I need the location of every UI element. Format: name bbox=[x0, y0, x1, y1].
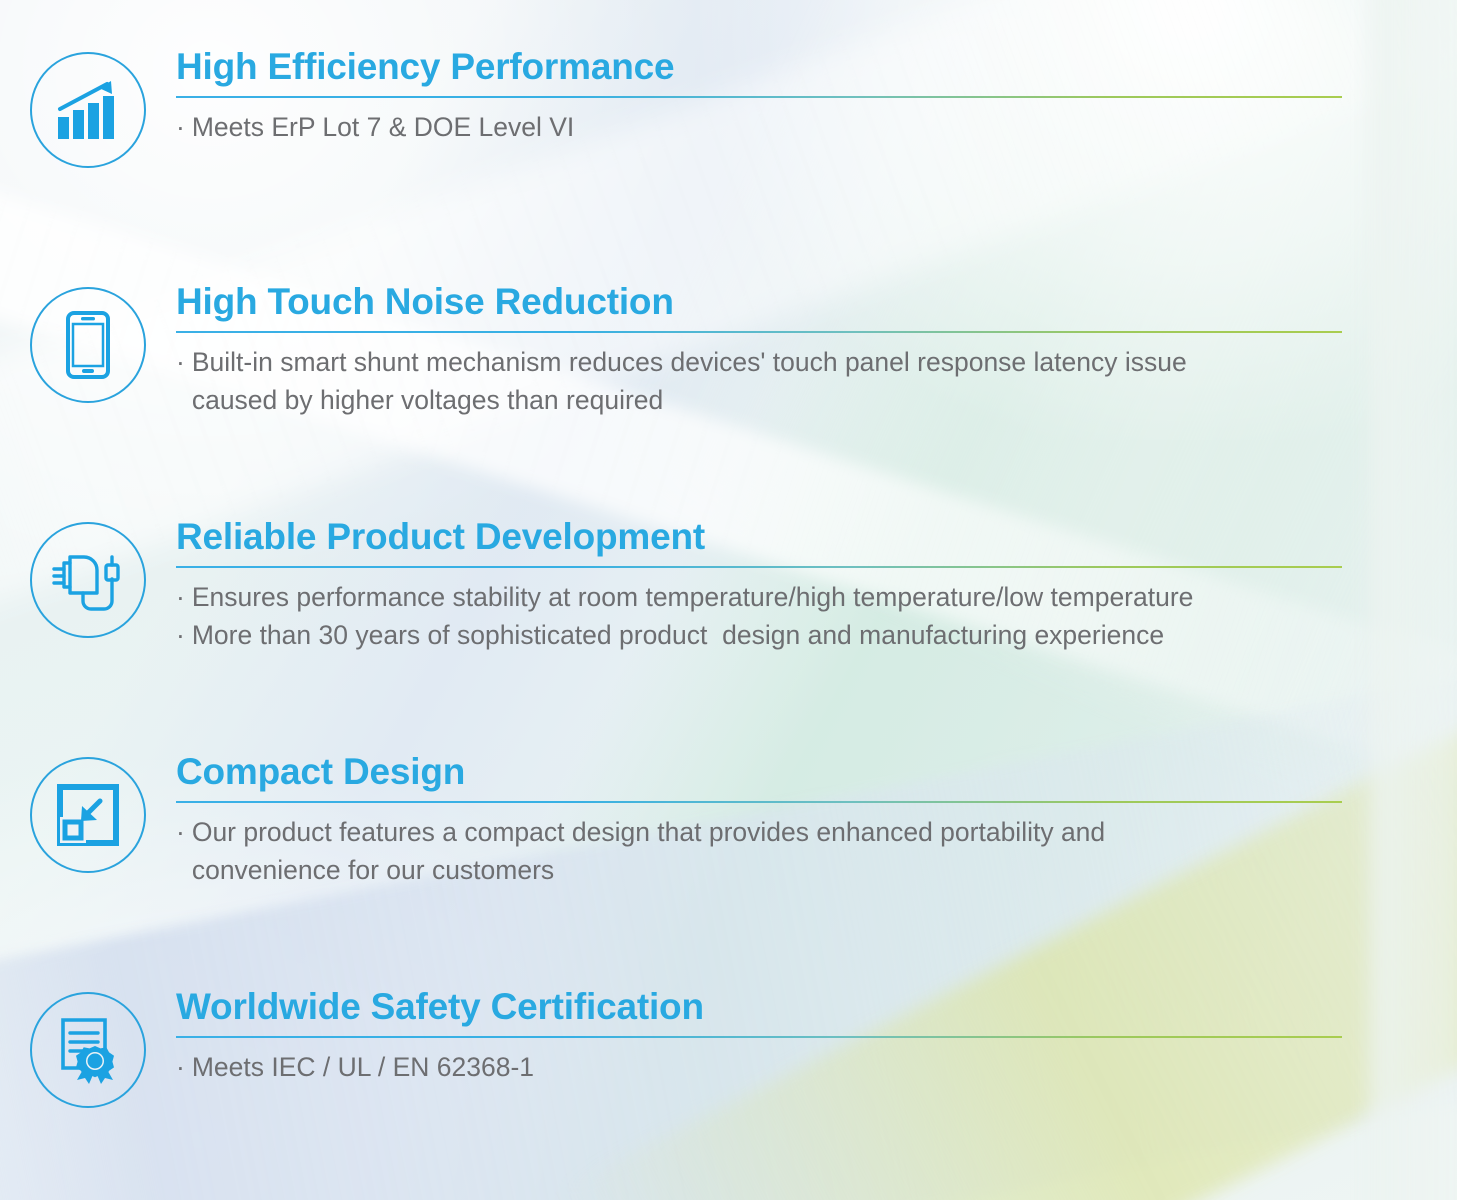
feature-title: High Touch Noise Reduction bbox=[176, 283, 1385, 321]
bullet-text: Meets IEC / UL / EN 62368-1 bbox=[192, 1049, 1385, 1087]
feature-content: Compact Design · Our product features a … bbox=[176, 753, 1457, 890]
bullet-text: Meets ErP Lot 7 & DOE Level VI bbox=[192, 109, 1385, 147]
feature-icon-wrap bbox=[0, 518, 176, 638]
bullet-marker: · bbox=[176, 579, 185, 617]
certificate-seal-icon bbox=[55, 1016, 121, 1084]
bullet-marker: · bbox=[176, 344, 185, 382]
smartphone-icon bbox=[66, 311, 110, 379]
feature-bullet: · More than 30 years of sophisticated pr… bbox=[176, 617, 1385, 655]
feature-bullets: · Our product features a compact design … bbox=[176, 814, 1385, 889]
feature-divider bbox=[176, 566, 1342, 568]
feature-icon-wrap bbox=[0, 753, 176, 873]
icon-circle bbox=[30, 757, 146, 873]
feature-list-panel: High Efficiency Performance · Meets ErP … bbox=[0, 0, 1457, 1200]
bullet-text: Ensures performance stability at room te… bbox=[192, 579, 1385, 617]
feature-item-worldwide-safety-certification: Worldwide Safety Certification · Meets I… bbox=[0, 988, 1457, 1108]
feature-icon-wrap bbox=[0, 988, 176, 1108]
feature-bullets: · Meets IEC / UL / EN 62368-1 bbox=[176, 1049, 1385, 1087]
feature-content: High Efficiency Performance · Meets ErP … bbox=[176, 48, 1457, 147]
feature-divider bbox=[176, 331, 1342, 333]
feature-content: Worldwide Safety Certification · Meets I… bbox=[176, 988, 1457, 1087]
bullet-text: Our product features a compact design th… bbox=[192, 814, 1385, 889]
feature-bullet: · Built-in smart shunt mechanism reduces… bbox=[176, 344, 1385, 419]
feature-content: High Touch Noise Reduction · Built-in sm… bbox=[176, 283, 1457, 420]
feature-bullet: · Meets IEC / UL / EN 62368-1 bbox=[176, 1049, 1385, 1087]
feature-divider bbox=[176, 801, 1342, 803]
feature-item-compact-design: Compact Design · Our product features a … bbox=[0, 753, 1457, 890]
feature-divider bbox=[176, 96, 1342, 98]
bullet-text: Built-in smart shunt mechanism reduces d… bbox=[192, 344, 1385, 419]
bullet-marker: · bbox=[176, 814, 185, 852]
feature-bullets: · Meets ErP Lot 7 & DOE Level VI bbox=[176, 109, 1385, 147]
bullet-marker: · bbox=[176, 617, 185, 655]
feature-item-high-touch-noise-reduction: High Touch Noise Reduction · Built-in sm… bbox=[0, 283, 1457, 420]
bullet-marker: · bbox=[176, 109, 185, 147]
feature-content: Reliable Product Development · Ensures p… bbox=[176, 518, 1457, 655]
feature-icon-wrap bbox=[0, 283, 176, 403]
compact-resize-icon bbox=[56, 783, 120, 847]
feature-title: High Efficiency Performance bbox=[176, 48, 1385, 86]
icon-circle bbox=[30, 287, 146, 403]
feature-item-reliable-product-development: Reliable Product Development · Ensures p… bbox=[0, 518, 1457, 655]
bar-chart-growth-icon bbox=[55, 79, 121, 141]
feature-divider bbox=[176, 1036, 1342, 1038]
feature-bullet: · Ensures performance stability at room … bbox=[176, 579, 1385, 617]
icon-circle bbox=[30, 522, 146, 638]
feature-title: Compact Design bbox=[176, 753, 1385, 791]
feature-item-high-efficiency-performance: High Efficiency Performance · Meets ErP … bbox=[0, 48, 1457, 168]
bullet-marker: · bbox=[176, 1049, 185, 1087]
feature-bullets: · Ensures performance stability at room … bbox=[176, 579, 1385, 654]
feature-bullets: · Built-in smart shunt mechanism reduces… bbox=[176, 344, 1385, 419]
feature-bullet: · Our product features a compact design … bbox=[176, 814, 1385, 889]
feature-bullet: · Meets ErP Lot 7 & DOE Level VI bbox=[176, 109, 1385, 147]
background-band-lower-blue bbox=[0, 647, 1457, 1200]
bullet-text: More than 30 years of sophisticated prod… bbox=[192, 617, 1385, 655]
feature-icon-wrap bbox=[0, 48, 176, 168]
icon-circle bbox=[30, 52, 146, 168]
power-adapter-icon bbox=[50, 545, 126, 615]
feature-title: Worldwide Safety Certification bbox=[176, 988, 1385, 1026]
feature-title: Reliable Product Development bbox=[176, 518, 1385, 556]
icon-circle bbox=[30, 992, 146, 1108]
